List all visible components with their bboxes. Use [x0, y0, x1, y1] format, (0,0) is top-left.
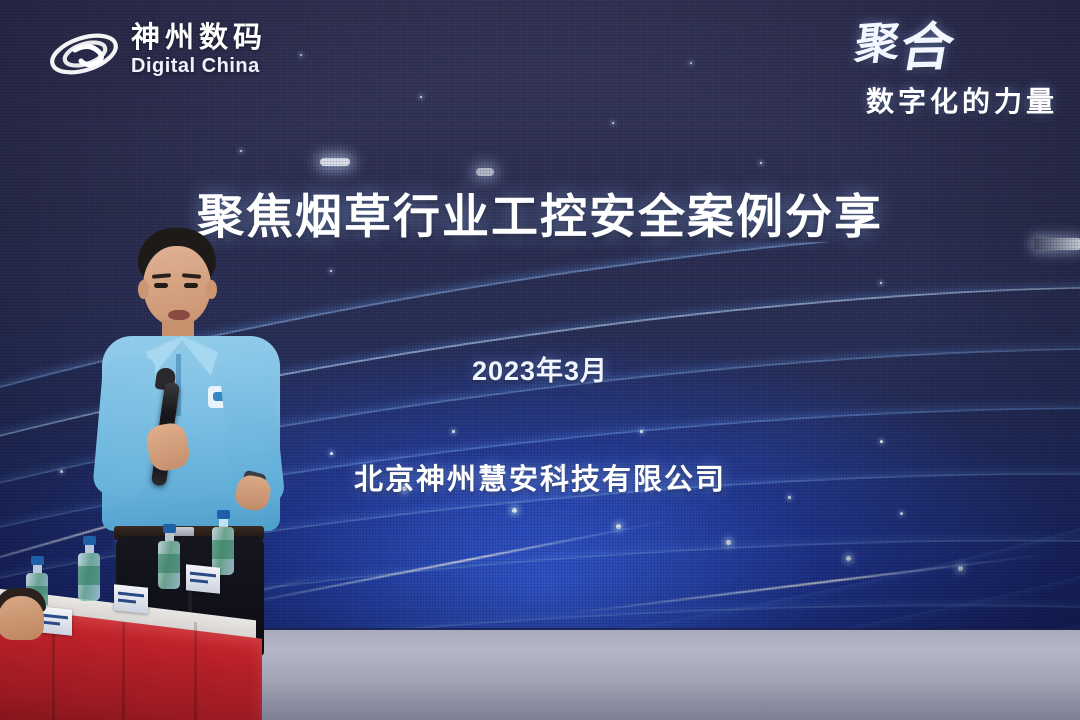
digital-china-swirl-icon	[45, 26, 123, 84]
stage-photo: 神州数码 Digital China 聚合 数字化的力量 聚焦烟草行业工控安全案…	[0, 0, 1080, 720]
speaker-eye-right	[184, 283, 198, 288]
name-card	[114, 584, 148, 614]
speaker-mouth	[168, 310, 190, 320]
speaker-ear-right	[206, 280, 217, 299]
attendee-head	[0, 596, 44, 640]
calligraphy-char-1: 聚	[852, 17, 897, 71]
event-logo-subtitle: 数字化的力量	[866, 80, 1058, 120]
foreground-table	[0, 560, 270, 720]
event-logo: 聚合 数字化的力量	[808, 14, 1058, 114]
brand-name-en: Digital China	[131, 54, 267, 78]
water-bottle	[158, 524, 180, 589]
brand-logo: 神州数码 Digital China	[45, 22, 315, 94]
water-bottle	[78, 536, 100, 601]
speaker-ear-left	[138, 280, 149, 299]
name-card	[186, 564, 220, 594]
speaker-eye-left	[154, 283, 168, 288]
water-bottle	[212, 510, 234, 575]
event-logo-calligraphy: 聚合	[853, 13, 944, 67]
calligraphy-char-2: 合	[897, 24, 952, 73]
brand-name-cn: 神州数码	[131, 22, 267, 54]
